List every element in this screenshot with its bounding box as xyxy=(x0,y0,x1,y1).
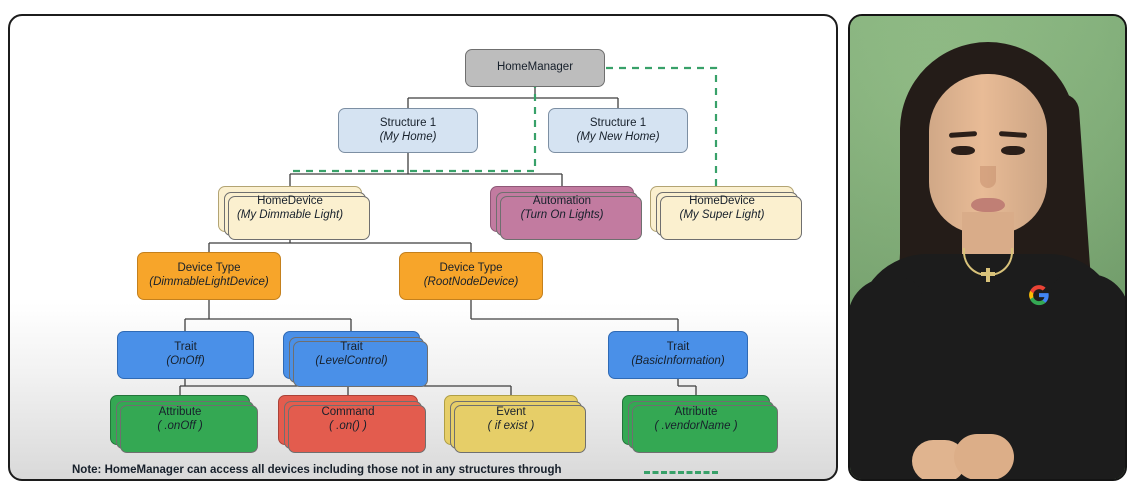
node-subtitle: (My Dimmable Light) xyxy=(237,209,343,223)
mouth xyxy=(971,198,1005,212)
diagram-node-command-1: Command( .on() ) xyxy=(278,395,418,445)
node-subtitle: (My Home) xyxy=(380,131,437,145)
node-subtitle: (LevelControl) xyxy=(315,355,387,369)
diagram-node-home-device-2: HomeDevice(My Super Light) xyxy=(650,186,794,232)
presenter-hand-right xyxy=(954,434,1014,480)
node-subtitle: (Turn On Lights) xyxy=(521,209,604,223)
diagram-node-structure-1: Structure 1(My Home) xyxy=(338,108,478,153)
presenter-video-panel[interactable] xyxy=(848,14,1127,481)
node-title: Command xyxy=(321,406,374,420)
node-title: Device Type xyxy=(177,262,240,276)
eye-left xyxy=(951,146,975,155)
node-title: HomeDevice xyxy=(257,195,323,209)
node-title: HomeDevice xyxy=(689,195,755,209)
node-title: Event xyxy=(496,406,525,420)
node-subtitle: ( if exist ) xyxy=(488,420,535,434)
node-subtitle: (RootNodeDevice) xyxy=(424,276,519,290)
diagram-node-device-type-1: Device Type(DimmableLightDevice) xyxy=(137,252,281,300)
home-api-hierarchy-diagram: HomeManagerStructure 1(My Home)Structure… xyxy=(10,16,832,475)
node-subtitle: (My Super Light) xyxy=(679,209,764,223)
node-subtitle: (OnOff) xyxy=(166,355,204,369)
node-subtitle: (DimmableLightDevice) xyxy=(149,276,269,290)
node-subtitle: (My New Home) xyxy=(576,131,659,145)
screenshot-root: HomeManagerStructure 1(My Home)Structure… xyxy=(0,0,1131,490)
diagram-node-device-type-2: Device Type(RootNodeDevice) xyxy=(399,252,543,300)
eye-right xyxy=(1001,146,1025,155)
presenter-face xyxy=(929,74,1047,234)
node-title: Trait xyxy=(174,341,197,355)
node-title: Trait xyxy=(340,341,363,355)
node-title: Trait xyxy=(667,341,690,355)
cross-pendant xyxy=(986,268,990,282)
diagram-node-attribute-1: Attribute( .onOff ) xyxy=(110,395,250,445)
diagram-node-trait-onoff: Trait(OnOff) xyxy=(117,331,254,379)
presentation-slide: HomeManagerStructure 1(My Home)Structure… xyxy=(8,14,838,481)
node-subtitle: ( .vendorName ) xyxy=(654,420,737,434)
diagram-node-automation: Automation(Turn On Lights) xyxy=(490,186,634,232)
diagram-node-attribute-2: Attribute( .vendorName ) xyxy=(622,395,770,445)
diagram-node-event-1: Event( if exist ) xyxy=(444,395,578,445)
node-title: Automation xyxy=(533,195,591,209)
diagram-note: Note: HomeManager can access all devices… xyxy=(72,464,632,476)
diagram-node-home-manager: HomeManager xyxy=(465,49,605,87)
presenter-arm-left xyxy=(848,278,922,481)
nose xyxy=(980,166,996,188)
node-subtitle: (BasicInformation) xyxy=(631,355,724,369)
node-title: Device Type xyxy=(439,262,502,276)
node-subtitle: ( .on() ) xyxy=(329,420,367,434)
node-title: Attribute xyxy=(675,406,718,420)
node-title: Structure 1 xyxy=(590,117,646,131)
diagram-node-home-device-1: HomeDevice(My Dimmable Light) xyxy=(218,186,362,232)
presenter-arm-right xyxy=(1051,274,1127,481)
diagram-node-structure-2: Structure 1(My New Home) xyxy=(548,108,688,153)
node-subtitle: ( .onOff ) xyxy=(157,420,202,434)
diagram-node-trait-basic: Trait(BasicInformation) xyxy=(608,331,748,379)
node-title: HomeManager xyxy=(497,61,573,75)
google-g-logo-icon xyxy=(1028,284,1050,306)
diagram-node-trait-level: Trait(LevelControl) xyxy=(283,331,420,379)
node-title: Structure 1 xyxy=(380,117,436,131)
dashed-line-legend xyxy=(644,471,718,474)
node-title: Attribute xyxy=(159,406,202,420)
